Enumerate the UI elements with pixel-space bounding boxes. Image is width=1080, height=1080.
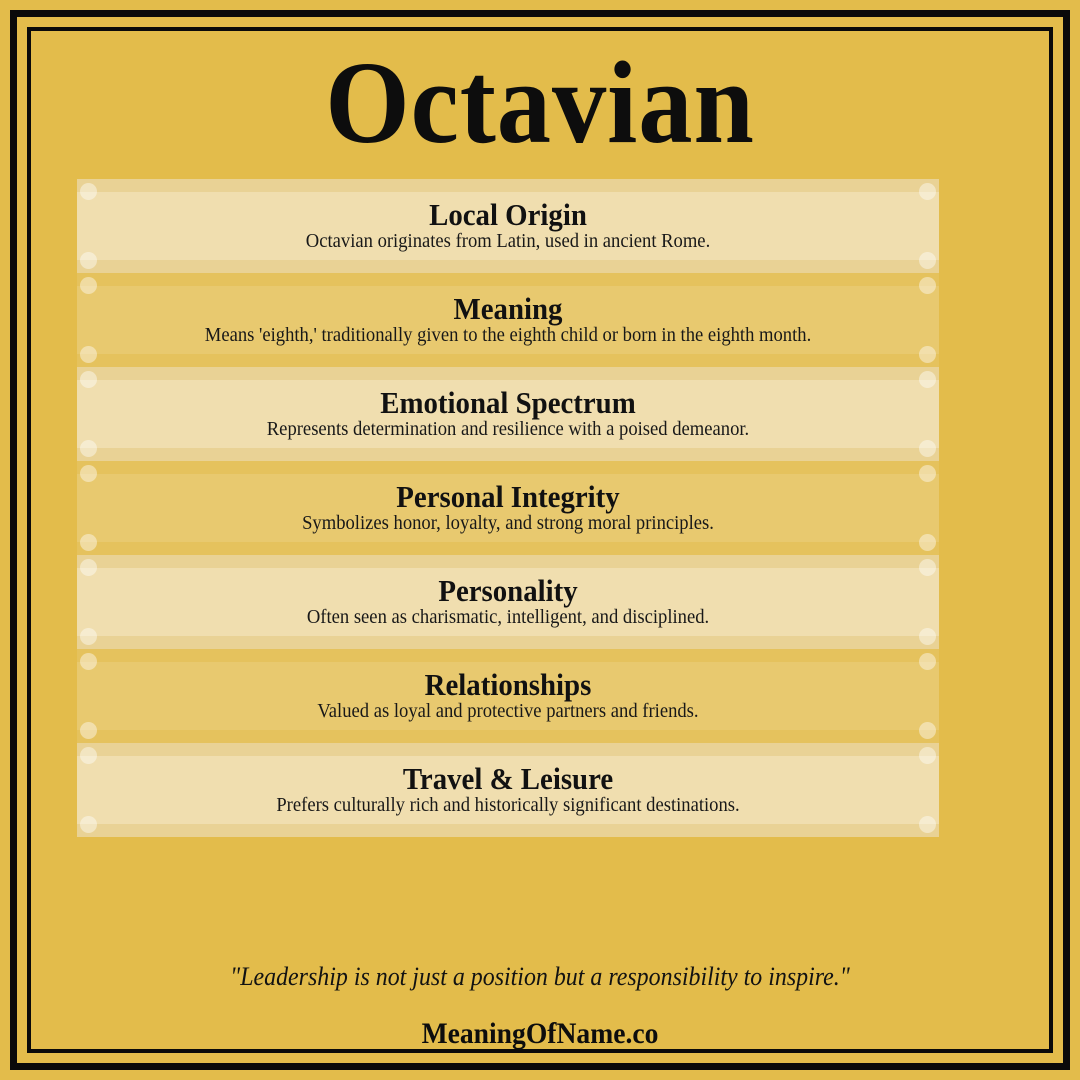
banner-top-edge xyxy=(77,555,939,568)
banner-rivet-icon xyxy=(919,653,936,670)
banner-rivet-icon xyxy=(80,252,97,269)
banner-rivet-icon xyxy=(919,440,936,457)
section-description: Symbolizes honor, loyalty, and strong mo… xyxy=(150,512,866,536)
banner-rivet-icon xyxy=(919,628,936,645)
banner-rivet-icon xyxy=(80,371,97,388)
banner-text-block: PersonalityOften seen as charismatic, in… xyxy=(123,575,893,629)
banner-text-block: MeaningMeans 'eighth,' traditionally giv… xyxy=(123,293,893,347)
banner-bottom-edge xyxy=(77,260,939,273)
section-title: Emotional Spectrum xyxy=(150,387,866,419)
section-banner: RelationshipsValued as loyal and protect… xyxy=(77,649,939,743)
banner-rivet-icon xyxy=(919,722,936,739)
banner-rivet-icon xyxy=(919,559,936,576)
section-title: Personality xyxy=(150,575,866,607)
section-banner: Travel & LeisurePrefers culturally rich … xyxy=(77,743,939,837)
banner-bottom-edge xyxy=(77,448,939,461)
section-title: Personal Integrity xyxy=(150,481,866,513)
banner-bottom-edge xyxy=(77,636,939,649)
section-title: Relationships xyxy=(150,669,866,701)
section-banner-list: Local OriginOctavian originates from Lat… xyxy=(77,179,939,837)
poster-root: Octavian Local OriginOctavian originates… xyxy=(0,0,1080,1080)
banner-rivet-icon xyxy=(919,183,936,200)
banner-rivet-icon xyxy=(80,440,97,457)
banner-top-edge xyxy=(77,743,939,756)
banner-rivet-icon xyxy=(919,277,936,294)
banner-rivet-icon xyxy=(80,346,97,363)
banner-bottom-edge xyxy=(77,824,939,837)
quote-text: "Leadership is not just a position but a… xyxy=(89,961,991,992)
banner-rivet-icon xyxy=(80,722,97,739)
section-description: Octavian originates from Latin, used in … xyxy=(150,230,866,254)
page-title: Octavian xyxy=(72,43,1009,163)
banner-text-block: RelationshipsValued as loyal and protect… xyxy=(123,669,893,723)
section-banner: MeaningMeans 'eighth,' traditionally giv… xyxy=(77,273,939,367)
banner-rivet-icon xyxy=(919,534,936,551)
banner-rivet-icon xyxy=(919,371,936,388)
banner-text-block: Travel & LeisurePrefers culturally rich … xyxy=(123,763,893,817)
poster-footer: "Leadership is not just a position but a… xyxy=(50,961,1030,1052)
banner-bottom-edge xyxy=(77,730,939,743)
section-description: Valued as loyal and protective partners … xyxy=(150,700,866,724)
banner-top-edge xyxy=(77,367,939,380)
banner-top-edge xyxy=(77,649,939,662)
banner-bottom-edge xyxy=(77,354,939,367)
banner-rivet-icon xyxy=(80,653,97,670)
section-banner: PersonalityOften seen as charismatic, in… xyxy=(77,555,939,649)
section-description: Means 'eighth,' traditionally given to t… xyxy=(150,324,866,348)
banner-rivet-icon xyxy=(80,559,97,576)
section-banner: Personal IntegritySymbolizes honor, loya… xyxy=(77,461,939,555)
banner-rivet-icon xyxy=(919,346,936,363)
section-description: Represents determination and resilience … xyxy=(150,418,866,442)
banner-top-edge xyxy=(77,179,939,192)
banner-rivet-icon xyxy=(80,816,97,833)
section-description: Prefers culturally rich and historically… xyxy=(150,794,866,818)
banner-rivet-icon xyxy=(80,183,97,200)
banner-rivet-icon xyxy=(80,534,97,551)
section-title: Local Origin xyxy=(150,199,866,231)
section-title: Travel & Leisure xyxy=(150,763,866,795)
banner-top-edge xyxy=(77,461,939,474)
banner-rivet-icon xyxy=(919,816,936,833)
banner-top-edge xyxy=(77,273,939,286)
section-banner: Local OriginOctavian originates from Lat… xyxy=(77,179,939,273)
banner-rivet-icon xyxy=(919,465,936,482)
banner-text-block: Local OriginOctavian originates from Lat… xyxy=(123,199,893,253)
banner-text-block: Emotional SpectrumRepresents determinati… xyxy=(123,387,893,441)
section-banner: Emotional SpectrumRepresents determinati… xyxy=(77,367,939,461)
banner-rivet-icon xyxy=(919,747,936,764)
banner-rivet-icon xyxy=(80,628,97,645)
website-label: MeaningOfName.co xyxy=(89,1016,991,1052)
section-title: Meaning xyxy=(150,293,866,325)
banner-rivet-icon xyxy=(919,252,936,269)
section-description: Often seen as charismatic, intelligent, … xyxy=(150,606,866,630)
banner-text-block: Personal IntegritySymbolizes honor, loya… xyxy=(123,481,893,535)
banner-rivet-icon xyxy=(80,465,97,482)
banner-rivet-icon xyxy=(80,277,97,294)
banner-bottom-edge xyxy=(77,542,939,555)
banner-rivet-icon xyxy=(80,747,97,764)
